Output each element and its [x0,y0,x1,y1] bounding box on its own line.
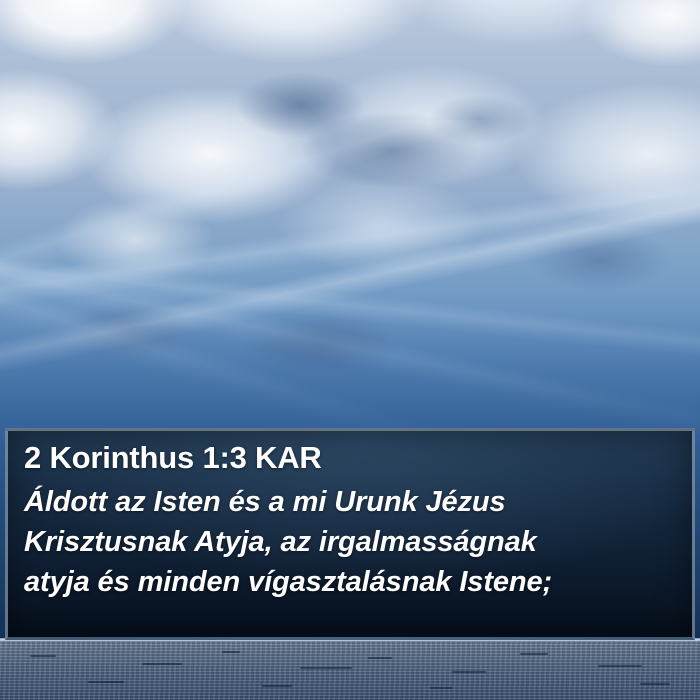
sunbeam-rays [0,120,700,450]
verse-text-line: Krisztusnak Atyja, az irgalmasságnak [24,522,684,562]
verse-content: 2 Korinthus 1:3 KAR Áldott az Isten és a… [24,439,684,602]
verse-image-scene: 2 Korinthus 1:3 KAR Áldott az Isten és a… [0,0,700,700]
ocean-water [0,641,700,700]
verse-text-line: Áldott az Isten és a mi Urunk Jézus [24,482,684,522]
verse-reference: 2 Korinthus 1:3 KAR [24,439,684,477]
verse-overlay-panel: 2 Korinthus 1:3 KAR Áldott az Isten és a… [5,428,695,640]
verse-text: Áldott az Isten és a mi Urunk Jézus Kris… [24,482,684,602]
verse-text-line: atyja és minden vígasztalásnak Istene; [24,562,684,602]
